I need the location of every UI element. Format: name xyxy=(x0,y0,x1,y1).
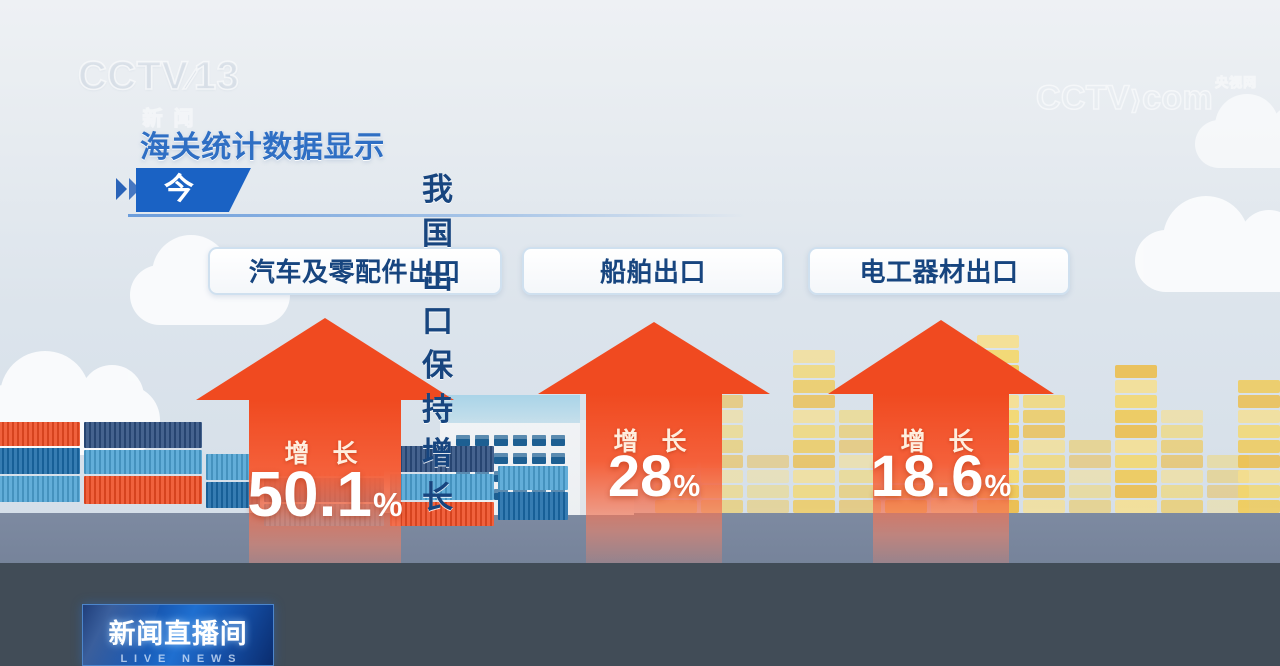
growth-arrow-ships: 增 长28% xyxy=(538,322,770,586)
coin xyxy=(1161,500,1203,513)
percent-sign: % xyxy=(985,470,1012,503)
coin xyxy=(1069,500,1111,513)
coin xyxy=(1238,380,1280,393)
coin-stack xyxy=(1161,410,1203,515)
growth-value-auto-parts: 50.1% xyxy=(196,462,454,526)
coin xyxy=(1161,455,1203,468)
cctv13-channel-logo: CCTV⁄13 新闻 xyxy=(78,55,258,117)
headline-main-text: 我国出口保持增长 xyxy=(422,168,453,212)
growth-number: 28 xyxy=(608,444,673,509)
category-box-ships: 船舶出口 xyxy=(522,247,784,295)
building-window xyxy=(513,435,527,446)
coin xyxy=(1115,455,1157,468)
shipping-container xyxy=(84,476,202,504)
coin-stack xyxy=(1069,440,1111,515)
coin xyxy=(1115,470,1157,483)
coin xyxy=(1238,500,1280,513)
shipping-container xyxy=(0,422,80,446)
cctv-com-watermark: CCTV⟩com央视网 xyxy=(1036,58,1236,110)
coin xyxy=(1115,440,1157,453)
percent-sign: % xyxy=(373,487,403,524)
coin xyxy=(1238,410,1280,423)
coin xyxy=(1238,470,1280,483)
program-bug-title: 新闻直播间 xyxy=(83,612,273,651)
coin xyxy=(1115,425,1157,438)
shipping-container xyxy=(84,450,202,474)
growth-arrow-auto-parts: 增 长50.1% xyxy=(196,318,454,600)
container-ribbing xyxy=(84,422,202,448)
coin xyxy=(1161,470,1203,483)
coin-stack xyxy=(1115,365,1157,515)
cctv-com-watermark-cn: 央视网 xyxy=(1215,75,1257,90)
coin xyxy=(1115,410,1157,423)
coin xyxy=(1115,395,1157,408)
cloud-decoration xyxy=(1195,120,1280,168)
coin xyxy=(1161,410,1203,423)
coin xyxy=(1069,440,1111,453)
headline-underline xyxy=(128,214,746,217)
shipping-container xyxy=(84,422,202,448)
arrow-head-electrical xyxy=(828,320,1054,394)
building-window xyxy=(494,453,508,464)
building-window xyxy=(456,435,470,446)
coin xyxy=(1115,500,1157,513)
growth-value-electrical: 18.6% xyxy=(828,448,1054,506)
container-ribbing xyxy=(84,450,202,474)
building-window xyxy=(494,435,508,446)
coin xyxy=(1069,470,1111,483)
category-box-electrical: 电工器材出口 xyxy=(808,247,1070,295)
arrow-head-auto-parts xyxy=(196,318,454,400)
cloud-decoration xyxy=(1135,230,1280,292)
coin xyxy=(1161,425,1203,438)
coin xyxy=(1238,440,1280,453)
program-bug: 新闻直播间 LIVE NEWS xyxy=(82,604,274,666)
container-ribbing xyxy=(0,476,80,502)
program-bug-subtitle: LIVE NEWS xyxy=(83,653,273,665)
coin xyxy=(1069,455,1111,468)
arrow-head-ships xyxy=(538,322,770,394)
coin xyxy=(1161,485,1203,498)
growth-number: 50.1 xyxy=(247,458,372,530)
growth-arrow-electrical: 增 长18.6% xyxy=(828,320,1054,590)
coin xyxy=(1069,485,1111,498)
news-graphic-stage: 增 长50.1% 增 长28% 增 长18.6% 汽车及零配件出口 船舶出口 电… xyxy=(0,0,1280,666)
coin xyxy=(1115,380,1157,393)
container-ribbing xyxy=(0,448,80,474)
container-ribbing xyxy=(84,476,202,504)
coin xyxy=(1238,395,1280,408)
coin xyxy=(1238,485,1280,498)
category-box-auto-parts: 汽车及零配件出口 xyxy=(208,247,502,295)
coin-stack xyxy=(1238,380,1280,515)
coin xyxy=(1115,485,1157,498)
building-window xyxy=(513,453,527,464)
shipping-container xyxy=(0,448,80,474)
coin xyxy=(1161,440,1203,453)
percent-sign: % xyxy=(673,470,700,503)
coin xyxy=(1238,425,1280,438)
growth-value-ships: 28% xyxy=(538,448,770,506)
cctv13-logo-main: CCTV⁄13 xyxy=(78,55,258,101)
shipping-container xyxy=(0,476,80,502)
coin xyxy=(1238,455,1280,468)
growth-number: 18.6 xyxy=(871,444,984,509)
coin xyxy=(1115,365,1157,378)
cctv13-logo-sub: 新闻 xyxy=(78,102,258,131)
container-ribbing xyxy=(0,422,80,446)
building-window xyxy=(475,435,489,446)
